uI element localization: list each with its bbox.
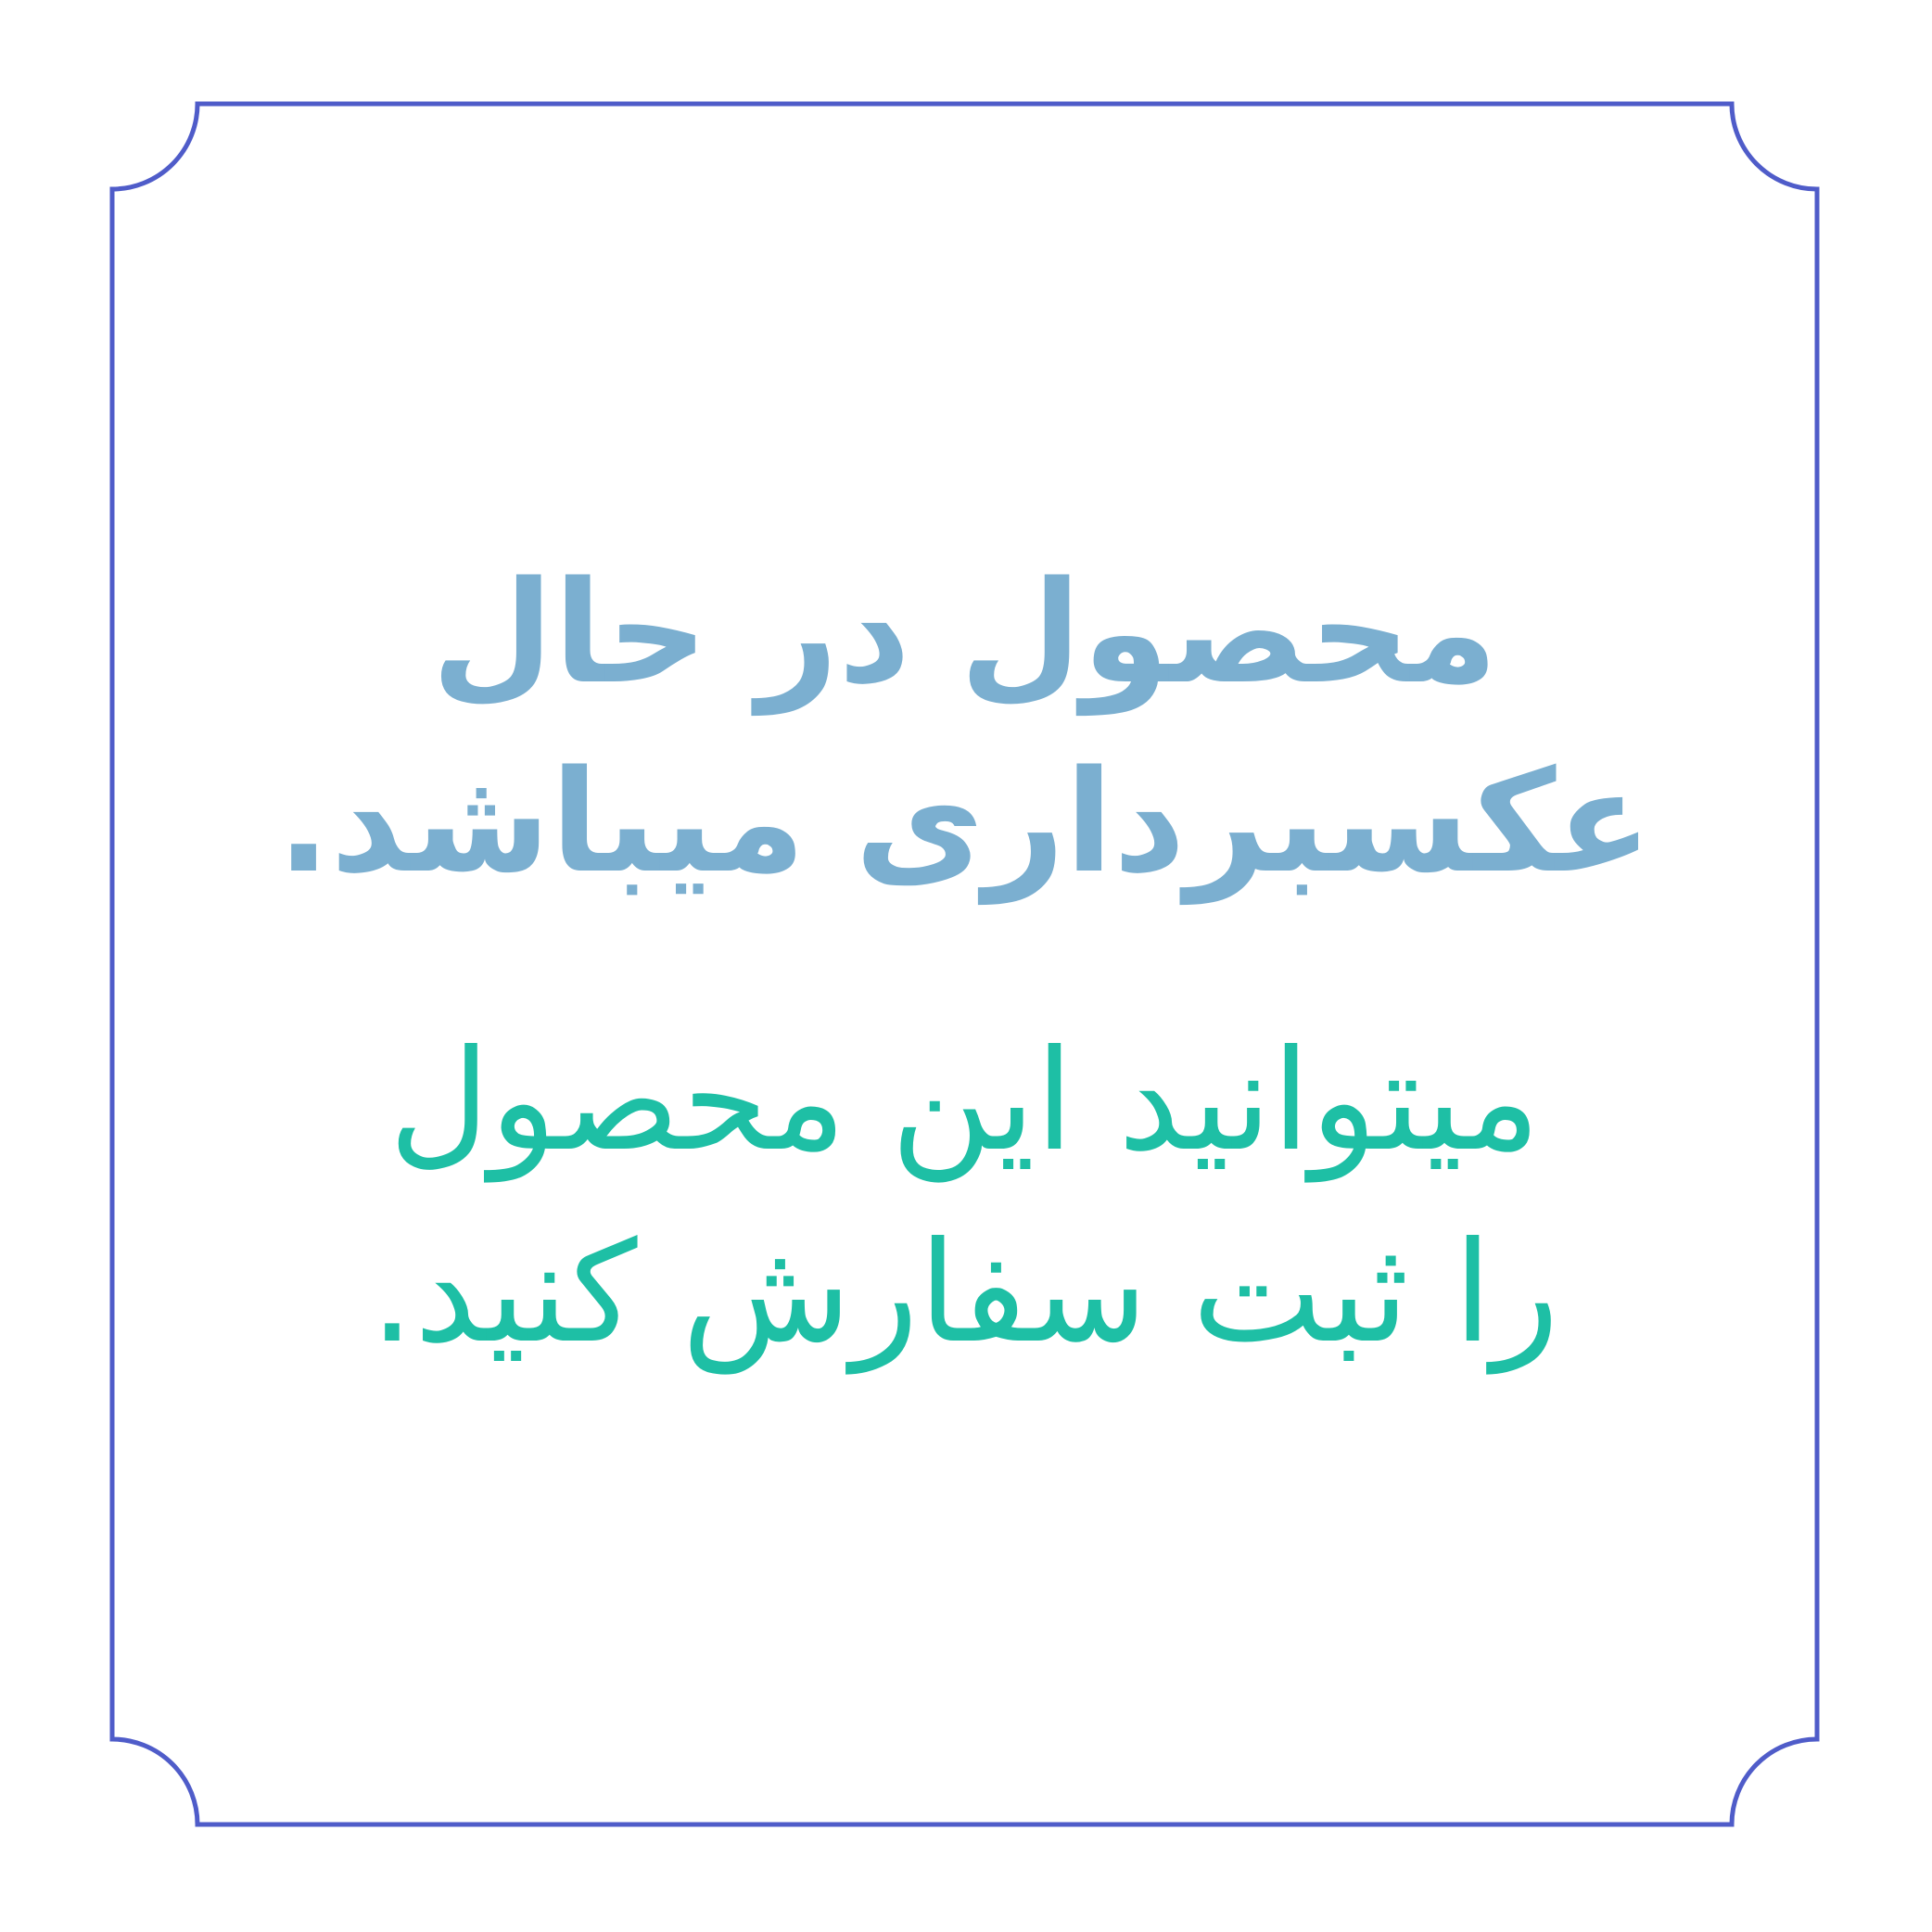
secondary-notice-text: میتوانید این محصول را ثبت سفارش کنید.: [214, 1006, 1715, 1390]
primary-notice-text: محصول در حال عکسبرداری میباشد.: [214, 539, 1715, 916]
placeholder-card: محصول در حال عکسبرداری میباشد. میتوانید …: [0, 0, 1932, 1932]
notice-text-block: محصول در حال عکسبرداری میباشد. میتوانید …: [112, 104, 1817, 1824]
